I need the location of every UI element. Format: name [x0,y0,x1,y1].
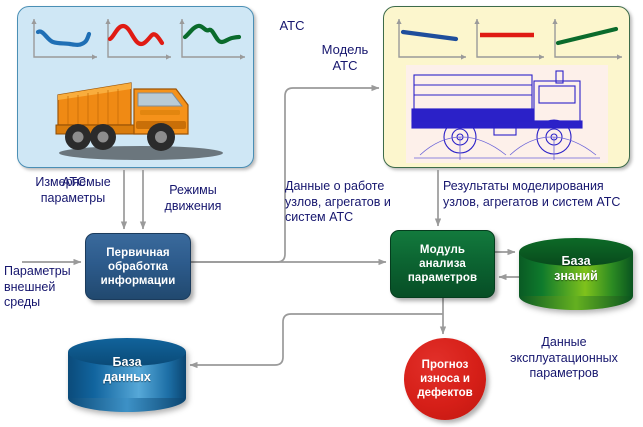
forecast-node[interactable]: Прогноз износа и дефектов [404,338,486,420]
label-environment-parameters: Параметры внешней среды [4,264,82,311]
graph-cell-blue [27,15,99,63]
model-graph-cell-blue [392,15,468,63]
graph-cell-green [175,15,247,63]
analysis-module-label: Модуль анализа параметров [408,243,477,285]
label-model-panel-title: Модель АТС [310,42,380,73]
diagram-canvas: Первичная обработка информации Модуль ан… [0,0,643,427]
knowledge-base-cylinder[interactable]: База знаний [519,238,633,296]
label-motion-modes: Режимы движения [150,183,236,214]
model-trend-graphs [392,15,624,63]
label-measured-parameters: Измеряемые параметры [18,175,128,206]
analysis-module-node[interactable]: Модуль анализа параметров [390,230,495,298]
model-panel [383,6,630,168]
label-unit-operation-data: Данные о работе узлов, агрегатов и систе… [285,179,435,226]
measured-signal-graphs [27,15,247,63]
database-label: База данных [68,355,186,385]
truck-blueprint-drawing [406,65,608,168]
model-graph-cell-red [470,15,546,63]
forecast-label: Прогноз износа и дефектов [417,358,472,400]
label-operational-data: Данные эксплуатационных параметров [497,335,631,382]
knowledge-base-label: База знаний [519,254,633,284]
primary-processing-label: Первичная обработка информации [101,246,176,288]
dump-truck-photo [36,65,236,168]
label-vehicle-panel-title: АТС [262,18,322,34]
model-graph-cell-green [548,15,624,63]
edge-to-database [190,314,443,365]
label-modeling-results: Результаты моделирования узлов, агрегато… [443,179,643,210]
primary-processing-node[interactable]: Первичная обработка информации [85,233,191,300]
vehicle-panel [17,6,254,168]
graph-cell-red [101,15,173,63]
database-cylinder[interactable]: База данных [68,338,186,398]
